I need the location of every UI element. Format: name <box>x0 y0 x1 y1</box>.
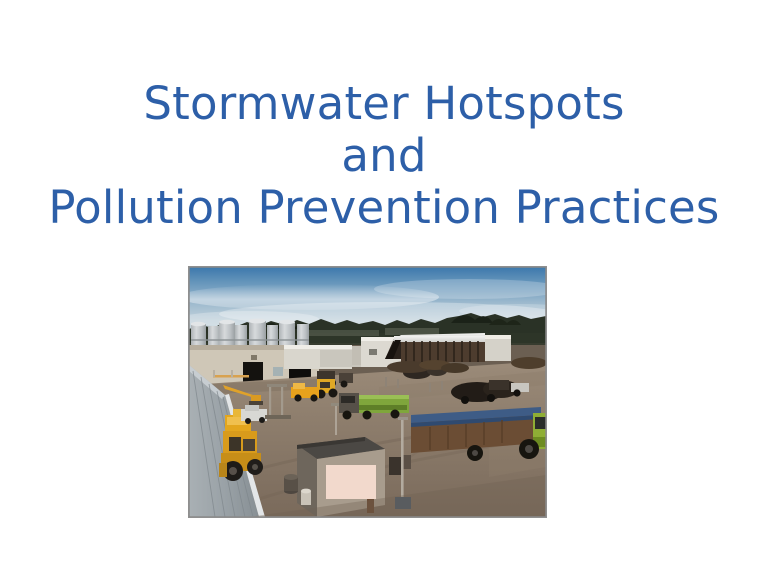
dumpster <box>389 457 403 475</box>
slide-photograph <box>189 267 546 517</box>
title-line-2: and <box>0 130 768 182</box>
salt-storage-barn <box>385 333 511 362</box>
title-line-1: Stormwater Hotspots <box>0 78 768 130</box>
slide-canvas: Stormwater Hotspots and Pollution Preven… <box>0 0 768 576</box>
industrial-yard-photo <box>189 267 546 517</box>
shed-panel <box>326 465 376 499</box>
page-title: Stormwater Hotspots and Pollution Preven… <box>0 78 768 235</box>
title-line-3: Pollution Prevention Practices <box>0 182 768 234</box>
